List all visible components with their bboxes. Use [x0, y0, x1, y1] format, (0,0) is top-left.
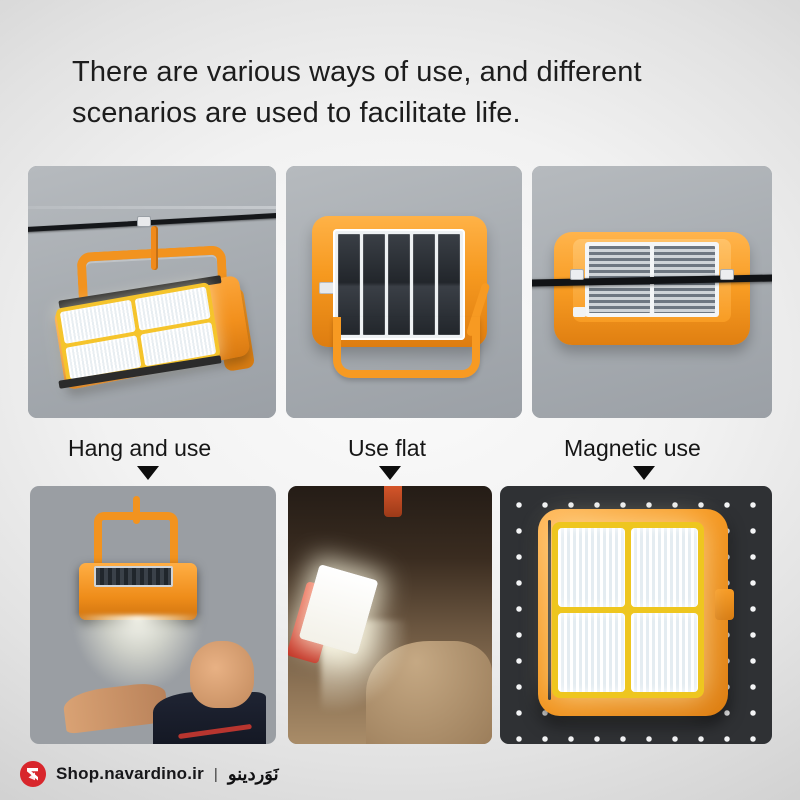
site-url: Shop.navardino.ir [56, 764, 204, 784]
photo-backdrop [28, 166, 276, 418]
hang-in-use-photo [30, 486, 276, 744]
down-triangle-icon [379, 466, 401, 480]
wall-seam [28, 206, 276, 209]
cable-clip-icon [137, 216, 151, 227]
led-quadrant [558, 528, 625, 607]
spec-badge [573, 307, 586, 317]
magnet-tab-left [570, 269, 584, 280]
infographic-page: There are various ways of use, and diffe… [0, 0, 800, 800]
down-triangle-icon [137, 466, 159, 480]
hang-and-use-photo [28, 166, 276, 418]
led-panel-grid [552, 522, 704, 697]
flat-in-use-photo [288, 486, 492, 744]
pegboard-backdrop [500, 486, 772, 744]
brand-name-fa: نَوَردینو [228, 764, 279, 785]
led-quadrant [631, 613, 698, 692]
hook-shaft [151, 226, 158, 270]
navardino-logo-icon [18, 759, 48, 789]
photo-backdrop [532, 166, 772, 418]
photo-scene [30, 486, 276, 744]
fold-out-stand [333, 317, 479, 377]
photo-backdrop [286, 166, 522, 418]
lamp-bezel-left [548, 520, 551, 701]
solar-panel-grid [94, 566, 173, 587]
carry-handle [94, 512, 178, 569]
caption-hang-and-use: Hang and use [68, 435, 211, 462]
caption-magnetic-use: Magnetic use [564, 435, 701, 462]
photo-scene [288, 486, 492, 744]
worker-head [190, 641, 254, 708]
footer-separator: | [214, 766, 218, 783]
use-flat-photo [286, 166, 522, 418]
led-quadrant [631, 528, 698, 607]
background-post [384, 486, 402, 517]
led-quadrant [558, 613, 625, 692]
page-title: There are various ways of use, and diffe… [72, 52, 732, 134]
caption-use-flat: Use flat [348, 435, 426, 462]
magnetic-in-use-photo [500, 486, 772, 744]
magnet-tab-right [720, 269, 734, 280]
footer-watermark: Shop.navardino.ir | نَوَردینو [0, 748, 800, 800]
magnetic-use-photo [532, 166, 772, 418]
down-triangle-icon [633, 466, 655, 480]
side-knob [715, 589, 734, 620]
